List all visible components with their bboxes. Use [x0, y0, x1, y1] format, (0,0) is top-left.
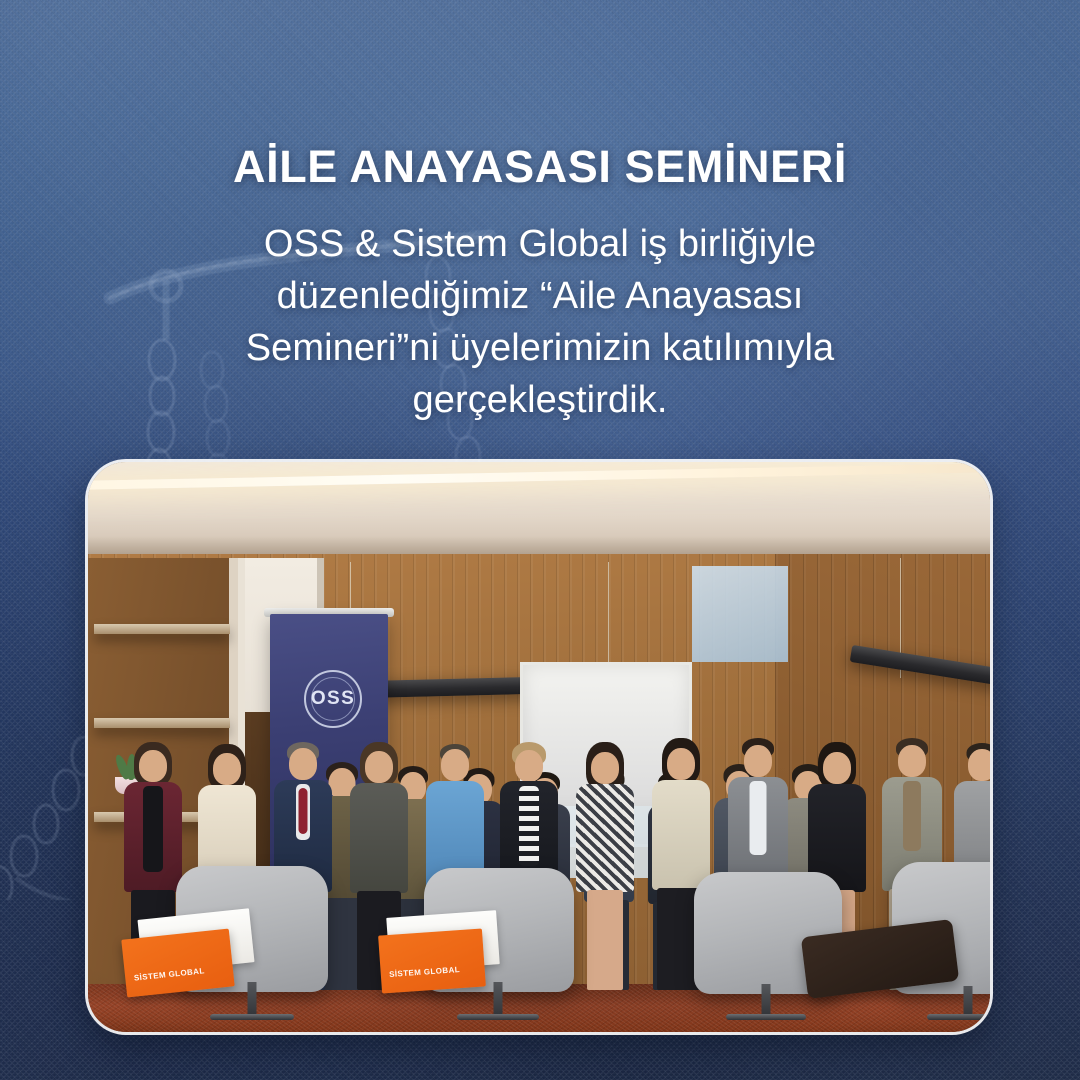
- subtitle-line-2: düzenlediğimiz “Aile Anayasası: [120, 270, 960, 322]
- chair-base: [210, 1014, 294, 1020]
- chair-base: [457, 1014, 539, 1020]
- brochure: SİSTEM GLOBAL: [121, 929, 234, 998]
- poster-canvas: AİLE ANAYASASI SEMİNERİ OSS & Sistem Glo…: [0, 0, 1080, 1080]
- event-photo: OSS: [88, 462, 990, 1032]
- subtitle-block: OSS & Sistem Global iş birliğiyle düzenl…: [120, 218, 960, 426]
- chair-base: [726, 1014, 806, 1020]
- chair-stem: [494, 982, 503, 1018]
- person: [576, 742, 634, 990]
- subtitle-line-3: Semineri”ni üyelerimizin katılımıyla: [120, 322, 960, 374]
- chair-stem: [762, 984, 771, 1018]
- subtitle-line-1: OSS & Sistem Global iş birliğiyle: [120, 218, 960, 270]
- page-title: AİLE ANAYASASI SEMİNERİ: [0, 143, 1080, 191]
- chair-stem: [248, 982, 257, 1018]
- subtitle-line-4: gerçekleştirdik.: [120, 374, 960, 426]
- event-photo-image: OSS: [88, 462, 990, 1032]
- brochure: SİSTEM GLOBAL: [378, 928, 486, 993]
- chair-base: [927, 1014, 990, 1020]
- brochure-label: SİSTEM GLOBAL: [134, 966, 206, 982]
- brochure-label: SİSTEM GLOBAL: [389, 965, 460, 979]
